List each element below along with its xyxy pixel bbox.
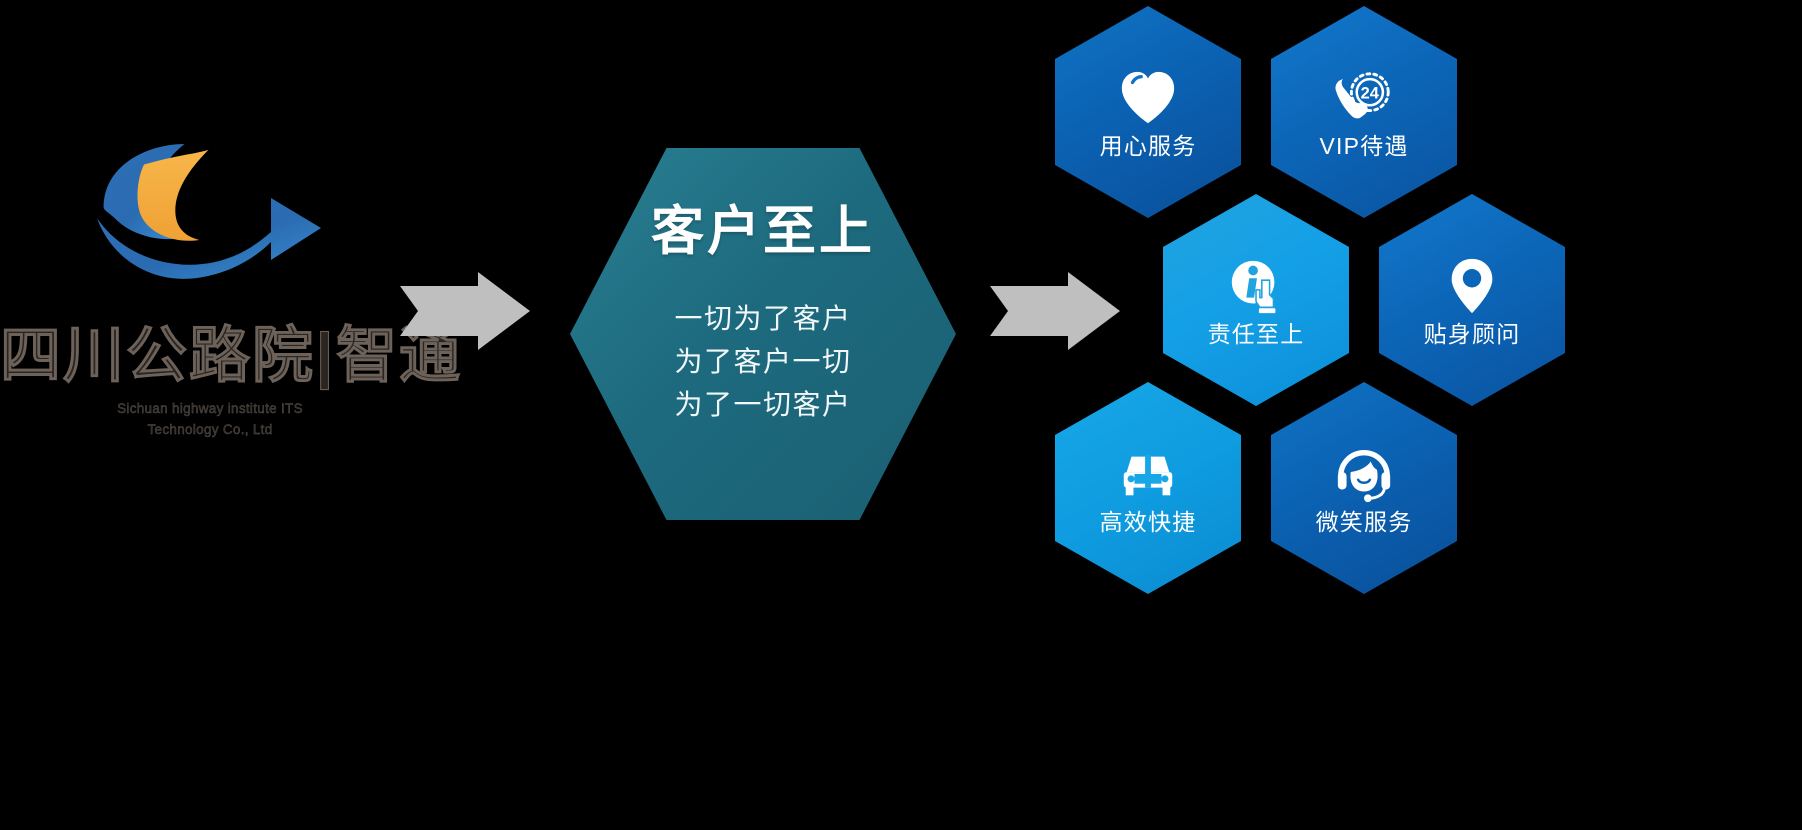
value-hexagon-cluster: 用心服务 24 VIP待遇 [1055,0,1575,620]
car-icon [1117,443,1179,505]
24-hour-phone-support-icon: 24 [1333,67,1395,129]
center-slogan-lines: 一切为了客户 为了客户一切 为了一切客户 [674,297,851,426]
hex-card-vip-treatment[interactable]: 24 VIP待遇 [1271,6,1457,218]
logo-subtitle-line-1: Sichuan highway institute ITS [0,398,420,419]
wordmark-divider: | [315,321,336,389]
logo-wordmark: 四川公路院|智通 [0,325,420,386]
logo-subtitle-line-2: Technology Co., Ltd [0,419,420,440]
logo-subtitle: Sichuan highway institute ITS Technology… [0,398,420,440]
swoosh-crescent-arrow-logo-icon [85,138,335,308]
hex-card-smile-service[interactable]: 微笑服务 [1271,382,1457,594]
hex-label: 用心服务 [1100,135,1197,158]
info-hand-click-icon [1225,255,1287,317]
hex-label: 贴身顾问 [1424,323,1521,346]
hex-label: 微笑服务 [1316,511,1413,534]
hex-label: 责任至上 [1208,323,1305,346]
heart-icon [1117,67,1179,129]
hex-card-heartfelt-service[interactable]: 用心服务 [1055,6,1241,218]
right-arrow-icon-1 [400,272,530,350]
center-hexagon: 客户至上 一切为了客户 为了客户一切 为了一切客户 [570,148,956,520]
hex-label: VIP待遇 [1319,135,1408,158]
wordmark-main: 四川公路院 [0,321,315,389]
center-slogan-line-3: 为了一切客户 [674,383,851,426]
center-slogan-line-1: 一切为了客户 [674,297,851,340]
center-title: 客户至上 [651,202,875,261]
hex-card-efficient-fast[interactable]: 高效快捷 [1055,382,1241,594]
hex-card-responsibility-first[interactable]: 责任至上 [1163,194,1349,406]
hex-card-personal-advisor[interactable]: 贴身顾问 [1379,194,1565,406]
map-pin-icon [1441,255,1503,317]
headset-operator-icon [1333,443,1395,505]
center-slogan-line-2: 为了客户一切 [674,340,851,383]
badge-24: 24 [1361,84,1380,102]
company-logo-block: 四川公路院|智通 Sichuan highway institute ITS T… [0,130,420,520]
slide-canvas: 四川公路院|智通 Sichuan highway institute ITS T… [0,0,1802,830]
hex-label: 高效快捷 [1100,511,1197,534]
